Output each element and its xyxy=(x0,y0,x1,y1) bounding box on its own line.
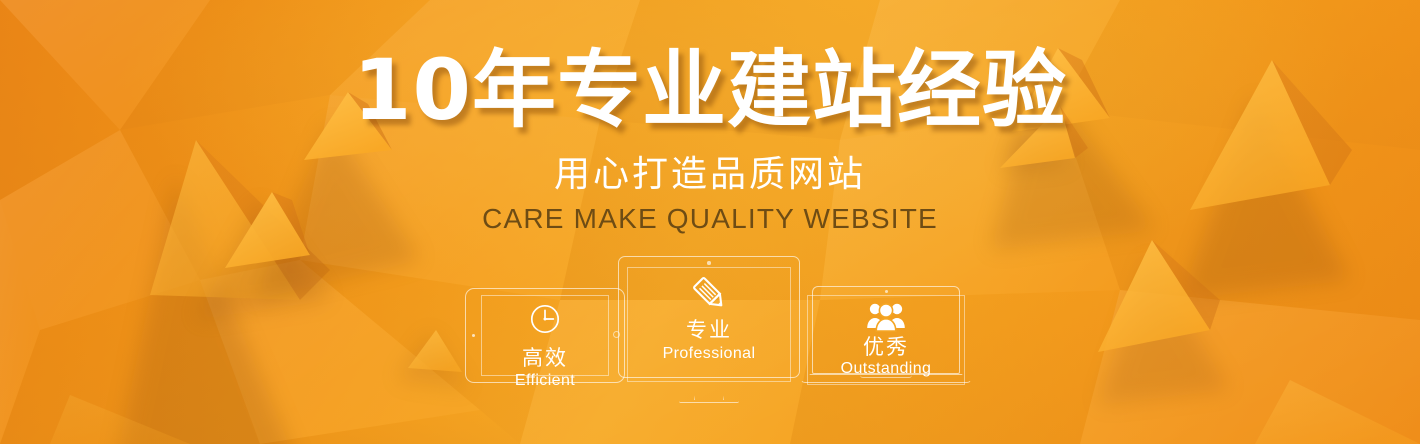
subtitle-chinese: 用心打造品质网站 xyxy=(0,152,1420,198)
feature-card-outstanding[interactable]: 优秀 Outstanding xyxy=(800,286,972,391)
feature-label-en-professional: Professional xyxy=(618,344,800,363)
feature-card-efficient[interactable]: 高效 Efficient xyxy=(465,288,625,383)
feature-label-cn-outstanding: 优秀 xyxy=(812,335,960,359)
people-group-icon xyxy=(866,300,906,332)
feature-device-row: 高效 Efficient xyxy=(455,250,995,410)
clock-icon xyxy=(528,302,562,336)
page-title: 10年专业建站经验 xyxy=(0,40,1420,140)
pencil-icon xyxy=(688,272,730,314)
promo-banner: 10年专业建站经验 用心打造品质网站 CARE MAKE QUALITY WEB… xyxy=(0,0,1420,444)
people-group-icon-wrapper xyxy=(812,300,960,332)
monitor-stand-base xyxy=(679,398,739,403)
pencil-icon-wrapper xyxy=(618,272,800,314)
monitor-stand-neck xyxy=(694,378,724,400)
monitor-camera-dot-icon xyxy=(707,261,711,265)
feature-label-en-efficient: Efficient xyxy=(465,371,625,390)
feature-label-cn-professional: 专业 xyxy=(618,318,800,342)
feature-label-en-outstanding: Outstanding xyxy=(812,359,960,378)
clock-icon-wrapper xyxy=(465,302,625,336)
subtitle-english: CARE MAKE QUALITY WEBSITE xyxy=(0,202,1420,236)
laptop-camera-dot-icon xyxy=(885,290,888,293)
feature-label-cn-efficient: 高效 xyxy=(465,346,625,370)
feature-card-professional[interactable]: 专业 Professional xyxy=(618,256,800,404)
